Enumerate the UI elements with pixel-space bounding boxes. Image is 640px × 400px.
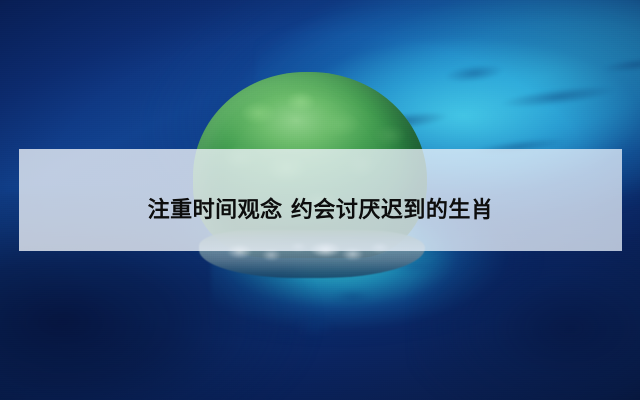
caption-banner: 注重时间观念 约会讨厌迟到的生肖 <box>19 149 622 251</box>
deep-water-right <box>410 240 640 400</box>
caption-title: 注重时间观念 约会讨厌迟到的生肖 <box>148 200 494 222</box>
image-canvas: 注重时间观念 约会讨厌迟到的生肖 <box>0 0 640 400</box>
